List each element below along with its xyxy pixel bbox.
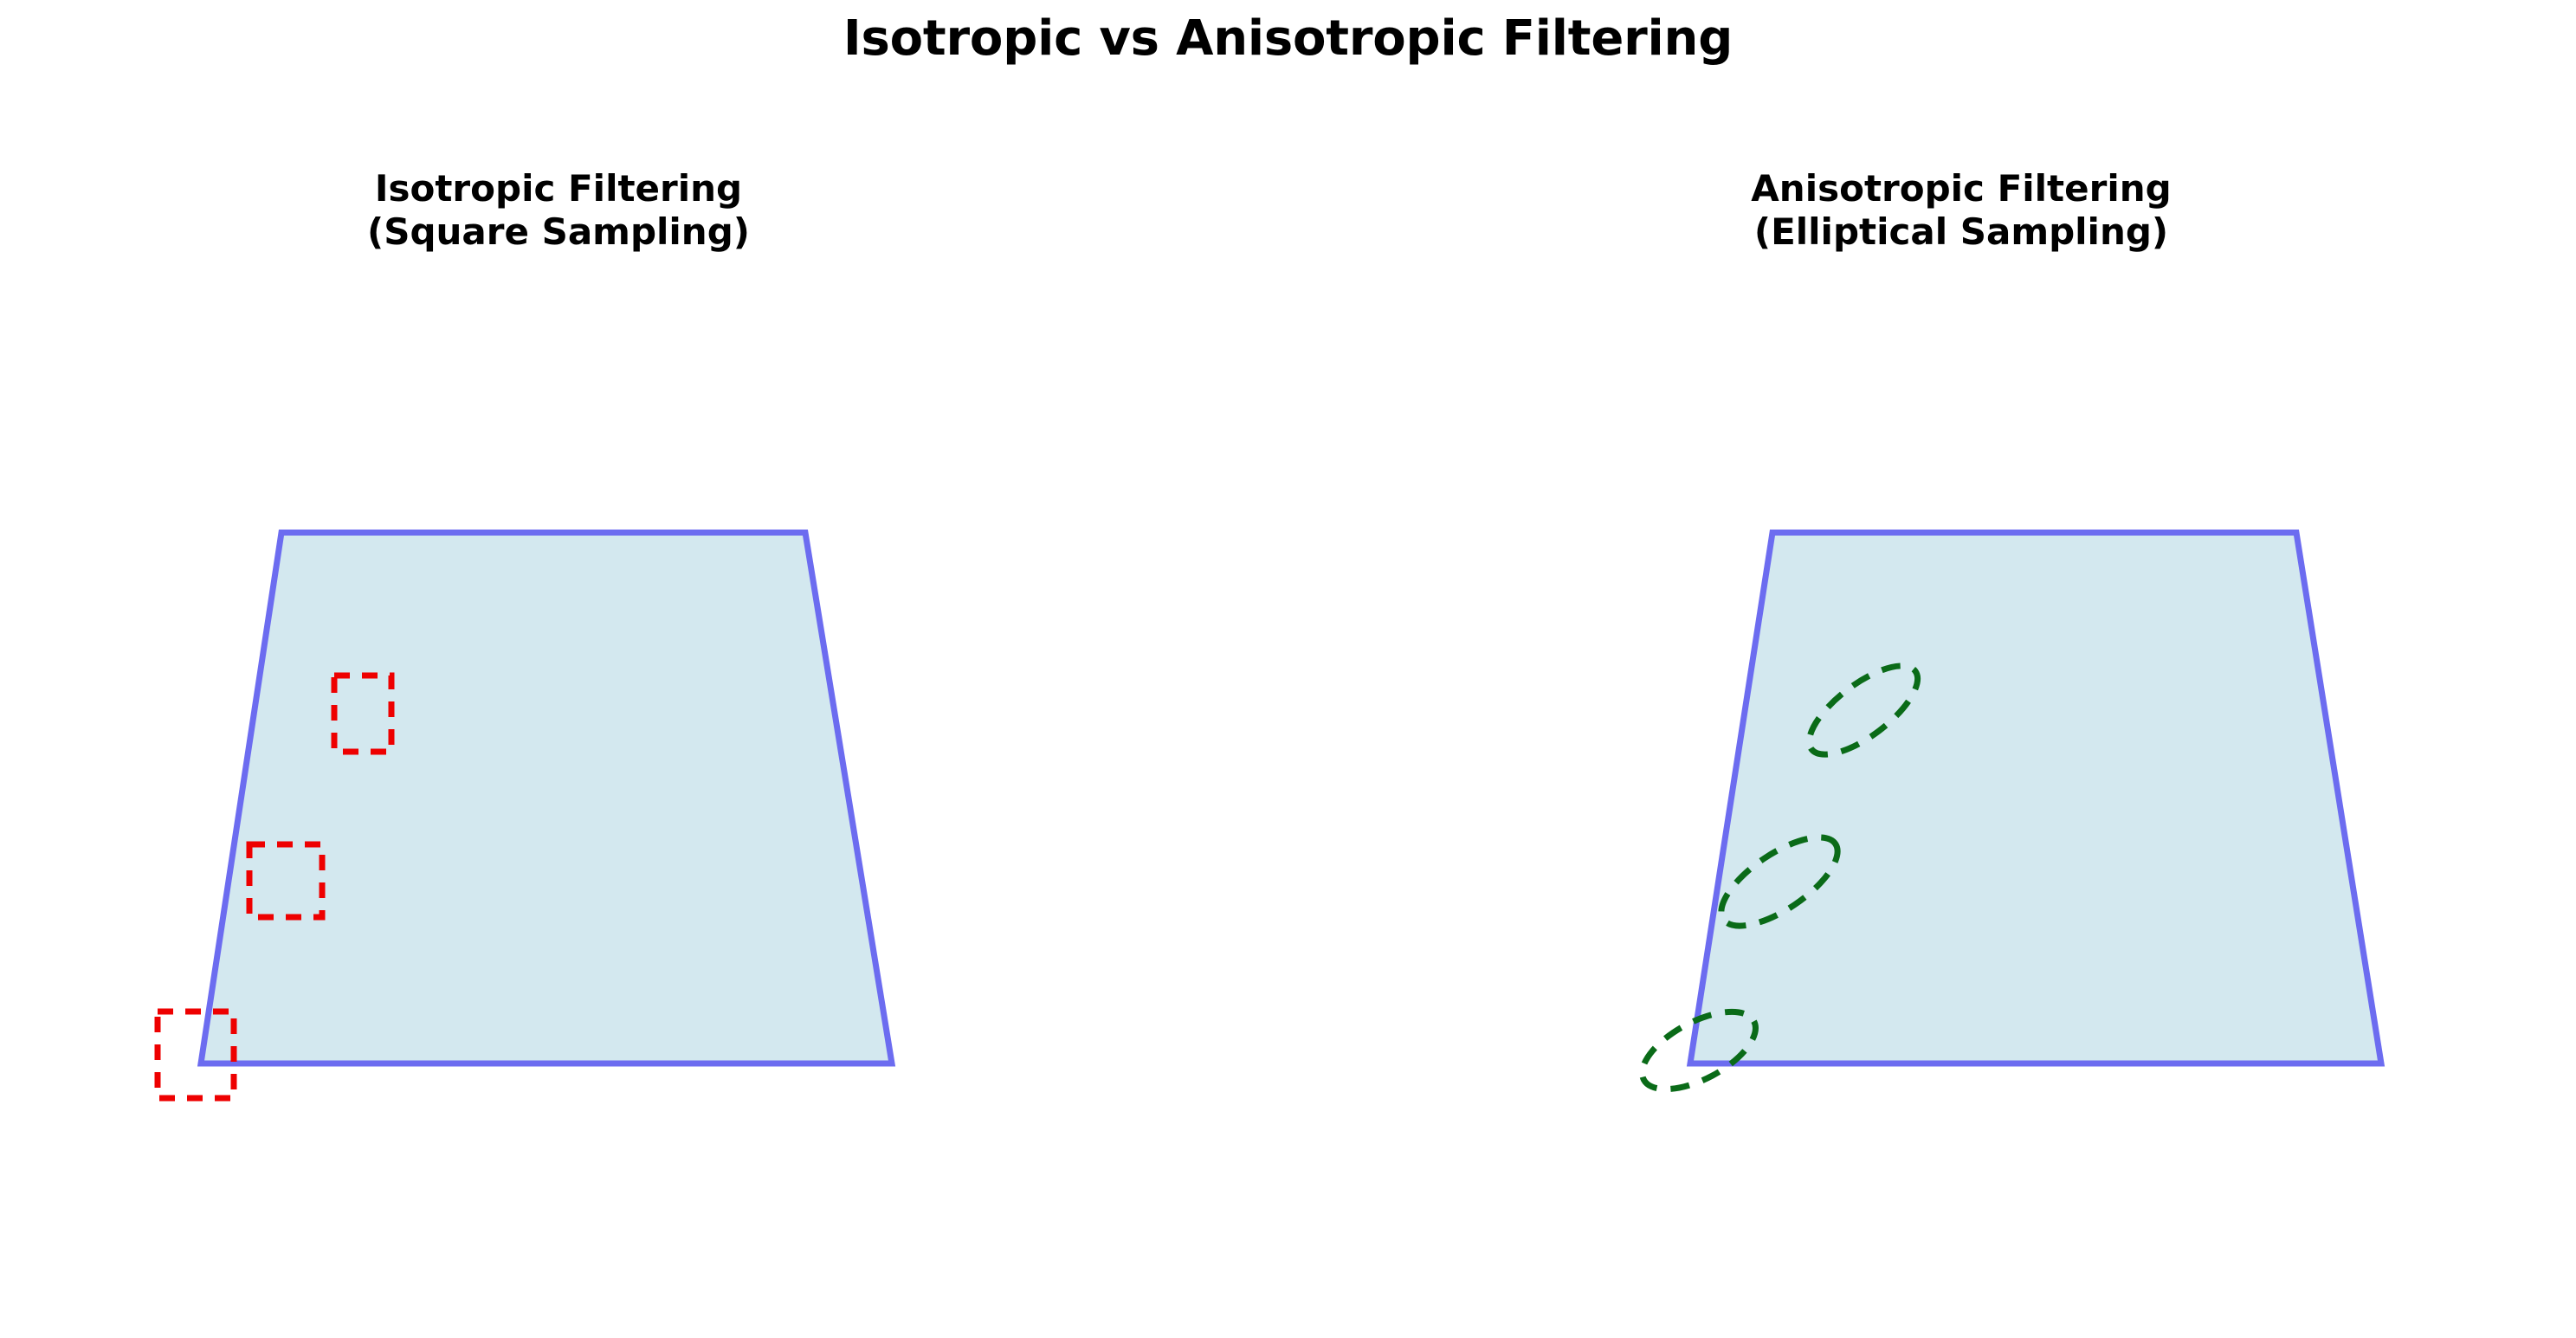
anisotropic-surface-quad — [1690, 533, 2381, 1063]
panel-isotropic — [158, 533, 892, 1098]
isotropic-surface-quad — [201, 533, 892, 1063]
figure-root: Isotropic vs Anisotropic Filtering Isotr… — [0, 0, 2576, 1338]
panel-anisotropic — [1630, 533, 2381, 1105]
diagram-canvas — [0, 0, 2576, 1338]
